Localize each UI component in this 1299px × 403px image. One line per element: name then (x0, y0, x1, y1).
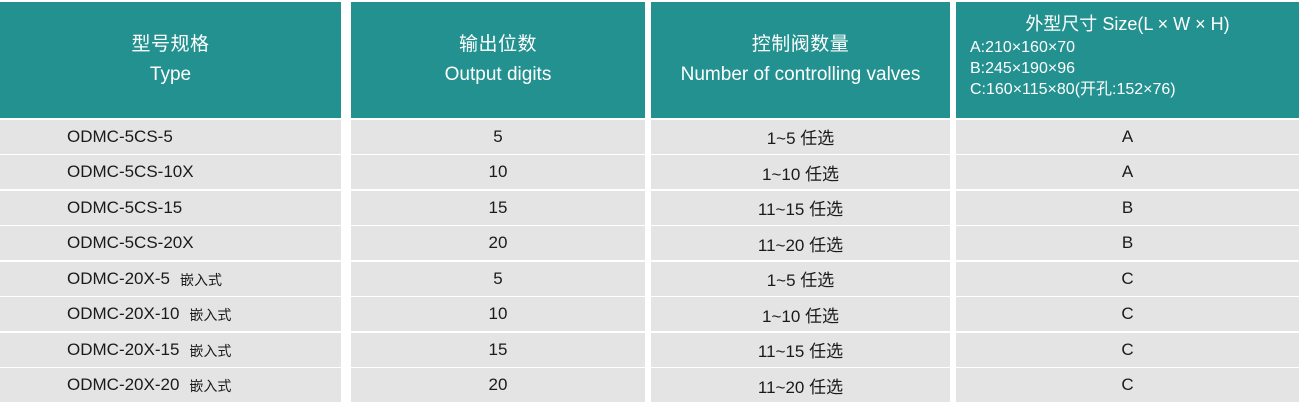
table-row: ODMC-5CS-151511~15 任选B (0, 191, 1299, 225)
table-body: ODMC-5CS-551~5 任选AODMC-5CS-10X101~10 任选A… (0, 120, 1299, 403)
table-row: ODMC-20X-10嵌入式101~10 任选C (0, 297, 1299, 331)
column-header-output-digits-label-cn: 输出位数 (459, 32, 537, 58)
model-mount-suffix: 嵌入式 (180, 270, 222, 290)
specification-table: 型号规格 Type 输出位数 Output digits 控制阀数量 Numbe… (0, 2, 1299, 403)
cell-output-digits: 5 (351, 262, 645, 296)
column-header-valves-label-en: Number of controlling valves (681, 62, 921, 88)
cell-type: ODMC-5CS-10X (0, 155, 341, 189)
cell-size: A (956, 155, 1299, 189)
cell-size: B (956, 226, 1299, 260)
column-header-valves: 控制阀数量 Number of controlling valves (651, 2, 950, 118)
cell-output-digits: 15 (351, 191, 645, 225)
model-mount-suffix: 嵌入式 (189, 341, 231, 361)
cell-valves: 11~15 任选 (651, 191, 950, 225)
model-name: ODMC-5CS-10X (67, 162, 194, 182)
column-header-size: 外型尺寸 Size(L × W × H) A:210×160×70 B:245×… (956, 2, 1299, 118)
cell-valves: 11~20 任选 (651, 226, 950, 260)
size-detail-line-b: B:245×190×96 (970, 58, 1299, 79)
cell-type: ODMC-5CS-5 (0, 120, 341, 154)
model-name: ODMC-5CS-20X (67, 233, 194, 253)
cell-valves: 1~10 任选 (651, 297, 950, 331)
model-name: ODMC-5CS-15 (67, 198, 182, 218)
cell-type: ODMC-5CS-15 (0, 191, 341, 225)
cell-output-digits: 10 (351, 155, 645, 189)
cell-valves: 11~20 任选 (651, 368, 950, 402)
cell-output-digits: 5 (351, 120, 645, 154)
table-header-row: 型号规格 Type 输出位数 Output digits 控制阀数量 Numbe… (0, 2, 1299, 118)
cell-output-digits: 20 (351, 368, 645, 402)
model-name: ODMC-5CS-5 (67, 127, 173, 147)
table-row: ODMC-5CS-20X2011~20 任选B (0, 226, 1299, 260)
model-name: ODMC-20X-10 (67, 304, 179, 324)
column-header-type: 型号规格 Type (0, 2, 341, 118)
table-row: ODMC-20X-15嵌入式1511~15 任选C (0, 333, 1299, 367)
column-header-size-detail-list: A:210×160×70 B:245×190×96 C:160×115×80(开… (956, 37, 1299, 100)
cell-size: A (956, 120, 1299, 154)
cell-valves: 1~10 任选 (651, 155, 950, 189)
cell-output-digits: 15 (351, 333, 645, 367)
table-row: ODMC-5CS-10X101~10 任选A (0, 155, 1299, 189)
table-row: ODMC-20X-5嵌入式51~5 任选C (0, 262, 1299, 296)
column-header-size-title: 外型尺寸 Size(L × W × H) (956, 12, 1299, 37)
cell-size: C (956, 297, 1299, 331)
cell-valves: 1~5 任选 (651, 120, 950, 154)
cell-type: ODMC-5CS-20X (0, 226, 341, 260)
cell-valves: 11~15 任选 (651, 333, 950, 367)
model-name: ODMC-20X-15 (67, 340, 179, 360)
cell-size: B (956, 191, 1299, 225)
cell-valves: 1~5 任选 (651, 262, 950, 296)
cell-output-digits: 10 (351, 297, 645, 331)
model-mount-suffix: 嵌入式 (189, 376, 231, 396)
model-name: ODMC-20X-5 (67, 269, 170, 289)
cell-size: C (956, 333, 1299, 367)
cell-size: C (956, 368, 1299, 402)
table-row: ODMC-20X-20嵌入式2011~20 任选C (0, 368, 1299, 402)
table-row: ODMC-5CS-551~5 任选A (0, 120, 1299, 154)
column-header-output-digits-label-en: Output digits (445, 62, 552, 88)
cell-type: ODMC-20X-10嵌入式 (0, 297, 341, 331)
cell-type: ODMC-20X-15嵌入式 (0, 333, 341, 367)
column-header-output-digits: 输出位数 Output digits (351, 2, 645, 118)
size-detail-line-c: C:160×115×80(开孔:152×76) (970, 79, 1299, 100)
column-header-type-label-cn: 型号规格 (131, 32, 209, 58)
column-header-type-label-en: Type (150, 62, 191, 88)
size-detail-line-a: A:210×160×70 (970, 37, 1299, 58)
cell-type: ODMC-20X-20嵌入式 (0, 368, 341, 402)
model-name: ODMC-20X-20 (67, 375, 179, 395)
cell-size: C (956, 262, 1299, 296)
cell-type: ODMC-20X-5嵌入式 (0, 262, 341, 296)
column-header-valves-label-cn: 控制阀数量 (752, 32, 850, 58)
model-mount-suffix: 嵌入式 (189, 305, 231, 325)
cell-output-digits: 20 (351, 226, 645, 260)
